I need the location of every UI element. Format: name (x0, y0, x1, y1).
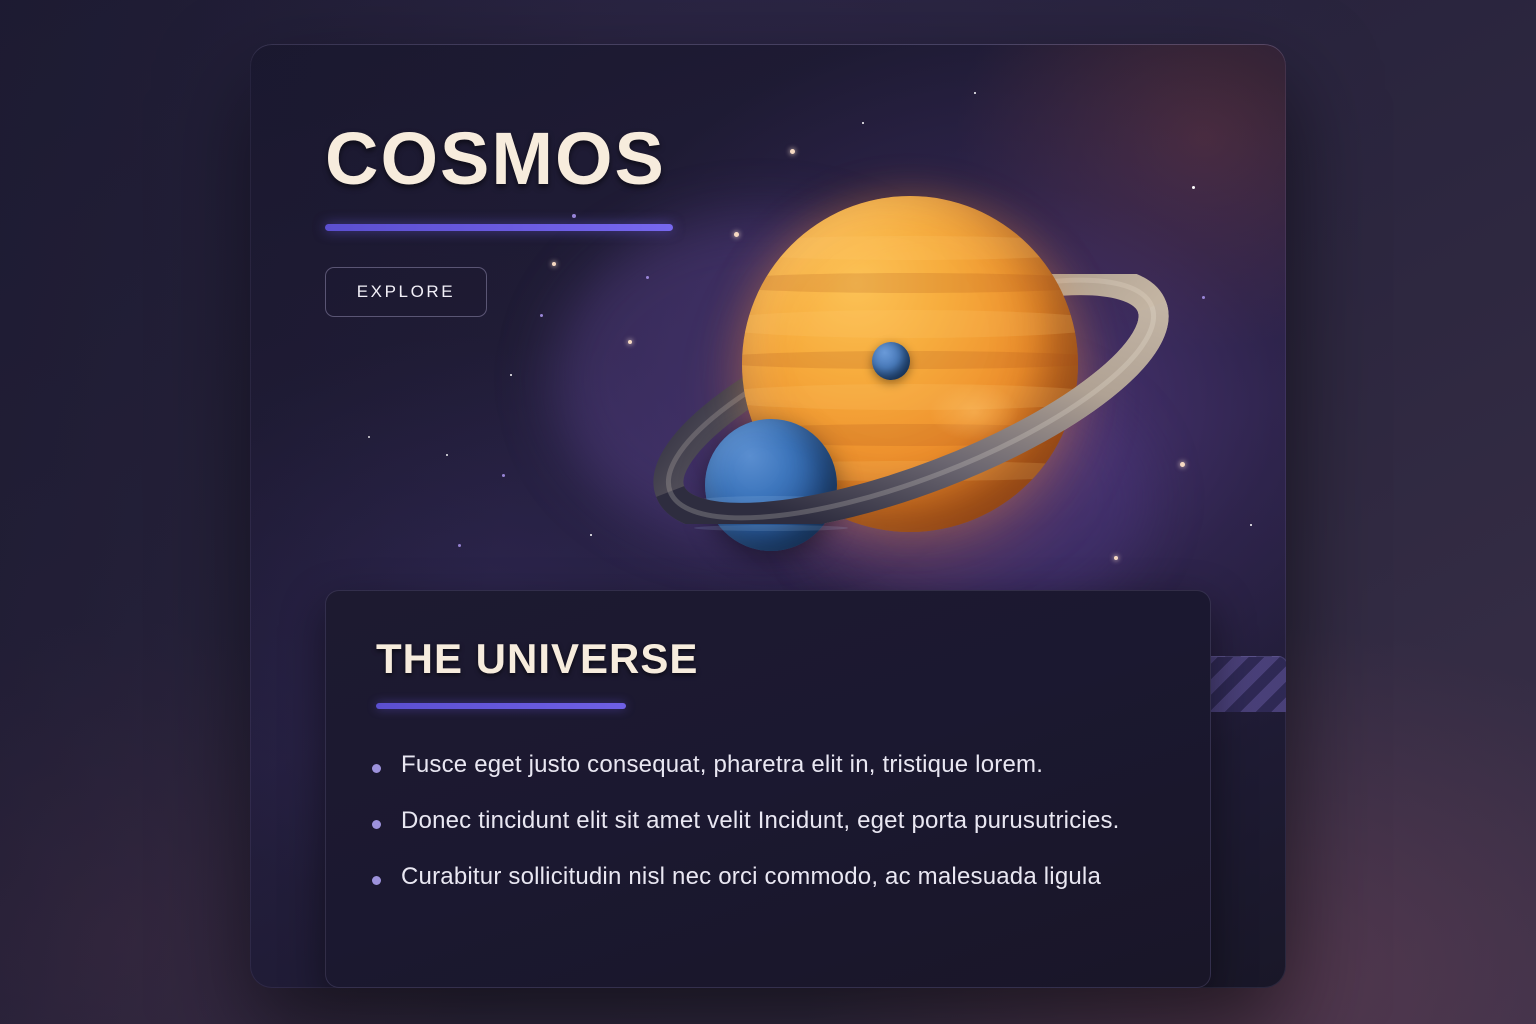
page-title: COSMOS (325, 122, 673, 196)
planet-saturn (650, 154, 1170, 644)
explore-button[interactable]: EXPLORE (325, 267, 487, 317)
card-header: COSMOS EXPLORE (325, 122, 673, 317)
cosmos-card: COSMOS EXPLORE THE UNIVERSE Fusce eget j… (250, 44, 1286, 988)
star (510, 374, 512, 376)
list-item-label: Fusce eget justo consequat, pharetra eli… (401, 751, 1043, 779)
star (1192, 186, 1195, 189)
star (590, 534, 592, 536)
list-item-label: Donec tincidunt elit sit amet velit Inci… (401, 807, 1120, 835)
feature-list: Fusce eget justo consequat, pharetra eli… (372, 751, 1210, 891)
star (458, 544, 461, 547)
list-item-label: Curabitur sollicitudin nisl nec orci com… (401, 863, 1101, 891)
star (446, 454, 448, 456)
title-accent-rule (325, 224, 673, 231)
star (368, 436, 370, 438)
list-item: Fusce eget justo consequat, pharetra eli… (372, 751, 1210, 779)
bullet-dot-icon (372, 876, 381, 885)
panel-accent-rule (376, 703, 626, 709)
list-item: Curabitur sollicitudin nisl nec orci com… (372, 863, 1210, 891)
panel-title: THE UNIVERSE (376, 635, 1210, 683)
bullet-dot-icon (372, 764, 381, 773)
star (502, 474, 505, 477)
list-item: Donec tincidunt elit sit amet velit Inci… (372, 807, 1210, 835)
star (628, 340, 632, 344)
universe-panel: THE UNIVERSE Fusce eget justo consequat,… (325, 590, 1211, 988)
star (1202, 296, 1205, 299)
page-backdrop: COSMOS EXPLORE THE UNIVERSE Fusce eget j… (0, 0, 1536, 1024)
star (1250, 524, 1252, 526)
star (974, 92, 976, 94)
star (862, 122, 864, 124)
bullet-dot-icon (372, 820, 381, 829)
saturn-ring-front (638, 274, 1184, 524)
